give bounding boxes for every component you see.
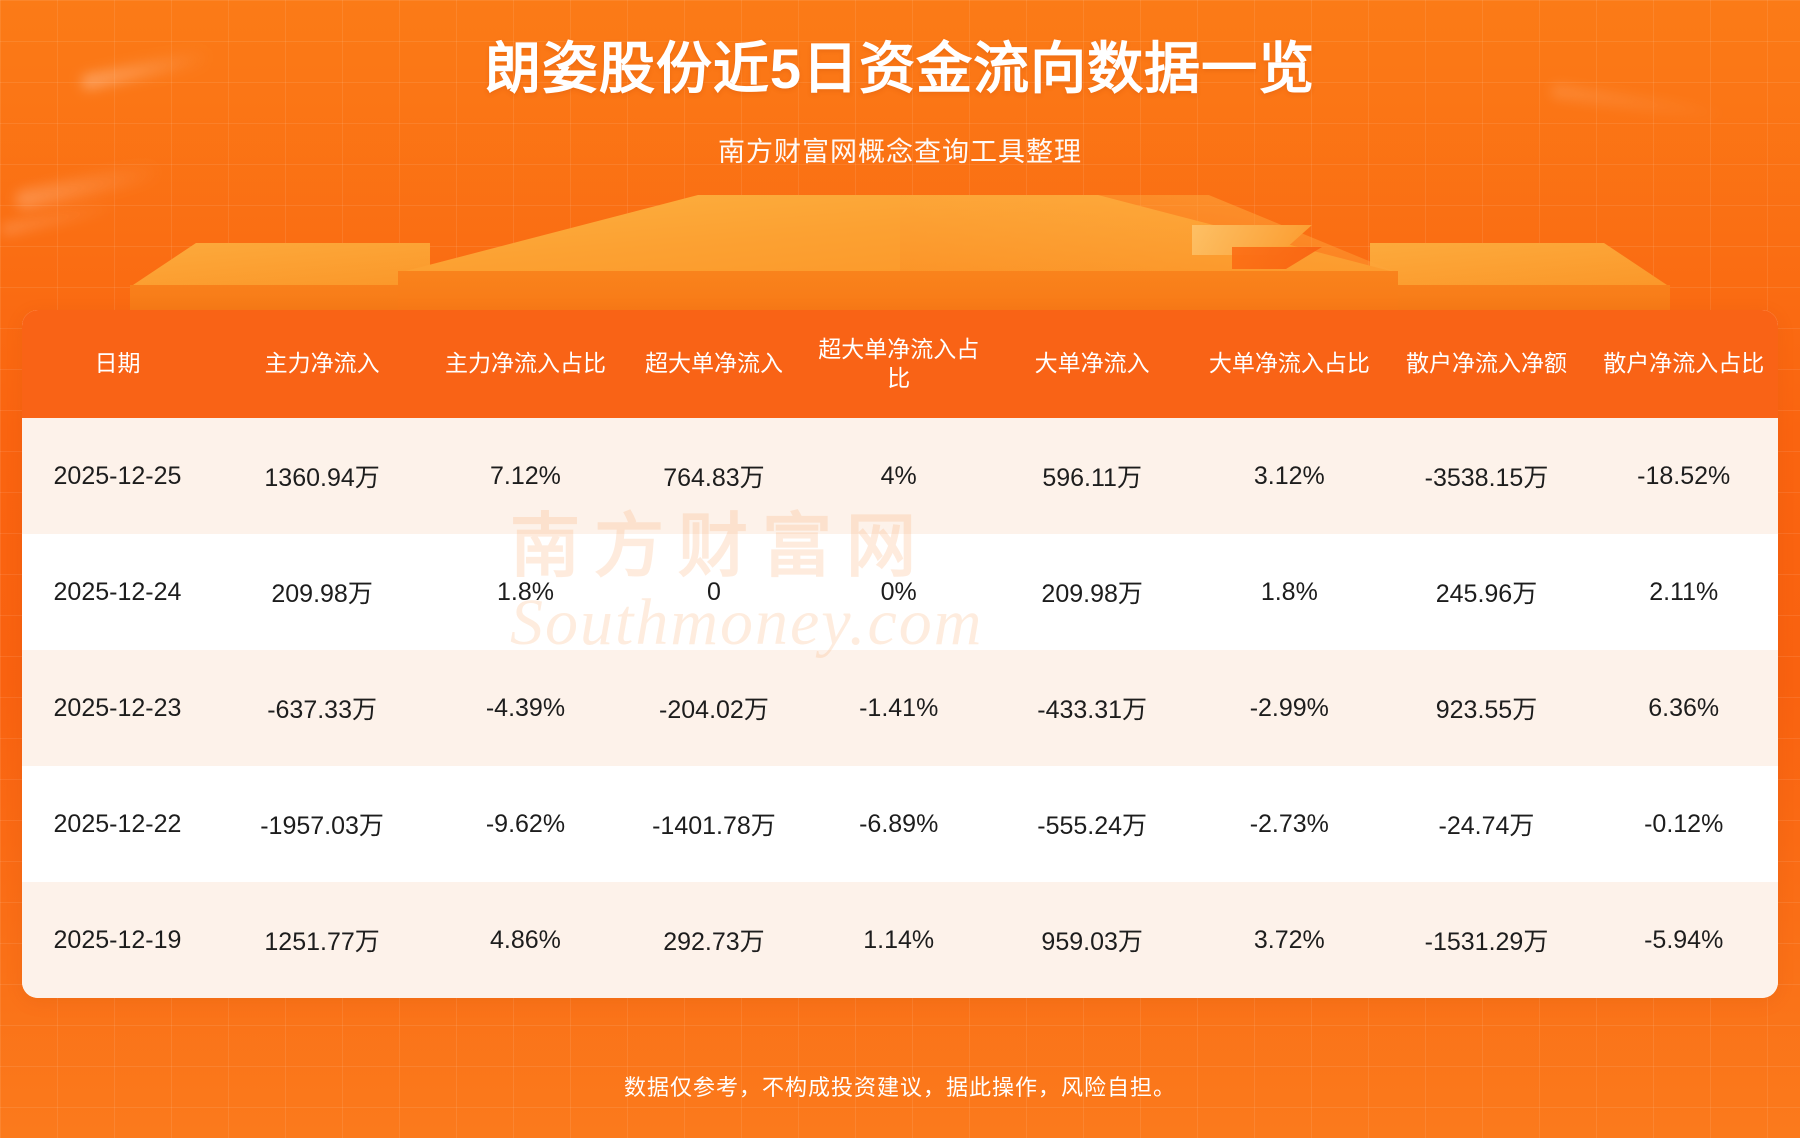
cell-date: 2025-12-25 — [22, 418, 213, 534]
cell-date: 2025-12-19 — [22, 882, 213, 998]
cell-big-net: 209.98万 — [989, 534, 1195, 650]
cell-retail-pct: 6.36% — [1589, 650, 1778, 766]
column-header-main-pct[interactable]: 主力净流入占比 — [431, 310, 619, 418]
disclaimer-text: 数据仅参考，不构成投资建议，据此操作，风险自担。 — [0, 1070, 1800, 1102]
cell-xl-pct: 0% — [808, 534, 989, 650]
cell-main-net: -1957.03万 — [213, 766, 431, 882]
podium-center-shade — [900, 195, 1398, 273]
table-row: 2025-12-19 1251.77万 4.86% 292.73万 1.14% … — [22, 882, 1778, 998]
cell-main-pct: -9.62% — [431, 766, 619, 882]
table-row: 2025-12-22 -1957.03万 -9.62% -1401.78万 -6… — [22, 766, 1778, 882]
cell-big-net: -555.24万 — [989, 766, 1195, 882]
cell-date: 2025-12-22 — [22, 766, 213, 882]
cell-xl-net: 0 — [620, 534, 808, 650]
cell-main-net: -637.33万 — [213, 650, 431, 766]
column-header-retail-net[interactable]: 散户净流入净额 — [1384, 310, 1590, 418]
cell-big-pct: 1.8% — [1195, 534, 1383, 650]
column-header-main-net[interactable]: 主力净流入 — [213, 310, 431, 418]
column-header-xl-pct[interactable]: 超大单净流入占比 — [808, 310, 989, 418]
cell-retail-pct: -18.52% — [1589, 418, 1778, 534]
cell-xl-net: 764.83万 — [620, 418, 808, 534]
cell-main-pct: 7.12% — [431, 418, 619, 534]
cell-big-pct: -2.99% — [1195, 650, 1383, 766]
cell-xl-net: -1401.78万 — [620, 766, 808, 882]
table-header-row: 日期 主力净流入 主力净流入占比 超大单净流入 超大单净流入占比 大单净流入 大… — [22, 310, 1778, 418]
data-table-card: 日期 主力净流入 主力净流入占比 超大单净流入 超大单净流入占比 大单净流入 大… — [22, 310, 1778, 998]
cell-retail-pct: -5.94% — [1589, 882, 1778, 998]
cell-xl-pct: 1.14% — [808, 882, 989, 998]
cell-retail-net: -3538.15万 — [1384, 418, 1590, 534]
cell-retail-net: -1531.29万 — [1384, 882, 1590, 998]
cell-big-pct: -2.73% — [1195, 766, 1383, 882]
cell-xl-net: 292.73万 — [620, 882, 808, 998]
column-header-xl-net[interactable]: 超大单净流入 — [620, 310, 808, 418]
cell-xl-net: -204.02万 — [620, 650, 808, 766]
table-header: 日期 主力净流入 主力净流入占比 超大单净流入 超大单净流入占比 大单净流入 大… — [22, 310, 1778, 418]
cell-big-net: 959.03万 — [989, 882, 1195, 998]
cell-big-pct: 3.12% — [1195, 418, 1383, 534]
cell-retail-net: -24.74万 — [1384, 766, 1590, 882]
cell-main-pct: -4.39% — [431, 650, 619, 766]
column-header-date[interactable]: 日期 — [22, 310, 213, 418]
cell-retail-pct: 2.11% — [1589, 534, 1778, 650]
column-header-big-net[interactable]: 大单净流入 — [989, 310, 1195, 418]
page-root: 朗姿股份近5日资金流向数据一览 南方财富网概念查询工具整理 日期 主力净流入 主… — [0, 0, 1800, 1138]
cell-xl-pct: 4% — [808, 418, 989, 534]
cell-big-pct: 3.72% — [1195, 882, 1383, 998]
fund-flow-table: 日期 主力净流入 主力净流入占比 超大单净流入 超大单净流入占比 大单净流入 大… — [22, 310, 1778, 998]
table-body: 2025-12-25 1360.94万 7.12% 764.83万 4% 596… — [22, 418, 1778, 998]
cell-xl-pct: -1.41% — [808, 650, 989, 766]
page-title: 朗姿股份近5日资金流向数据一览 — [0, 36, 1800, 102]
table-row: 2025-12-23 -637.33万 -4.39% -204.02万 -1.4… — [22, 650, 1778, 766]
cell-date: 2025-12-23 — [22, 650, 213, 766]
table-row: 2025-12-25 1360.94万 7.12% 764.83万 4% 596… — [22, 418, 1778, 534]
cell-big-net: 596.11万 — [989, 418, 1195, 534]
column-header-big-pct[interactable]: 大单净流入占比 — [1195, 310, 1383, 418]
cell-xl-pct: -6.89% — [808, 766, 989, 882]
page-subtitle: 南方财富网概念查询工具整理 — [0, 130, 1800, 169]
cell-retail-pct: -0.12% — [1589, 766, 1778, 882]
cell-main-net: 1360.94万 — [213, 418, 431, 534]
cell-retail-net: 245.96万 — [1384, 534, 1590, 650]
column-header-retail-pct[interactable]: 散户净流入占比 — [1589, 310, 1778, 418]
cell-main-pct: 4.86% — [431, 882, 619, 998]
cell-main-net: 1251.77万 — [213, 882, 431, 998]
podium-left-block-top — [130, 243, 430, 287]
cell-big-net: -433.31万 — [989, 650, 1195, 766]
cell-retail-net: 923.55万 — [1384, 650, 1590, 766]
podium-right-block-top — [1370, 243, 1670, 287]
cell-main-pct: 1.8% — [431, 534, 619, 650]
cell-date: 2025-12-24 — [22, 534, 213, 650]
table-row: 2025-12-24 209.98万 1.8% 0 0% 209.98万 1.8… — [22, 534, 1778, 650]
cell-main-net: 209.98万 — [213, 534, 431, 650]
hero-banner: 朗姿股份近5日资金流向数据一览 南方财富网概念查询工具整理 — [0, 0, 1800, 169]
